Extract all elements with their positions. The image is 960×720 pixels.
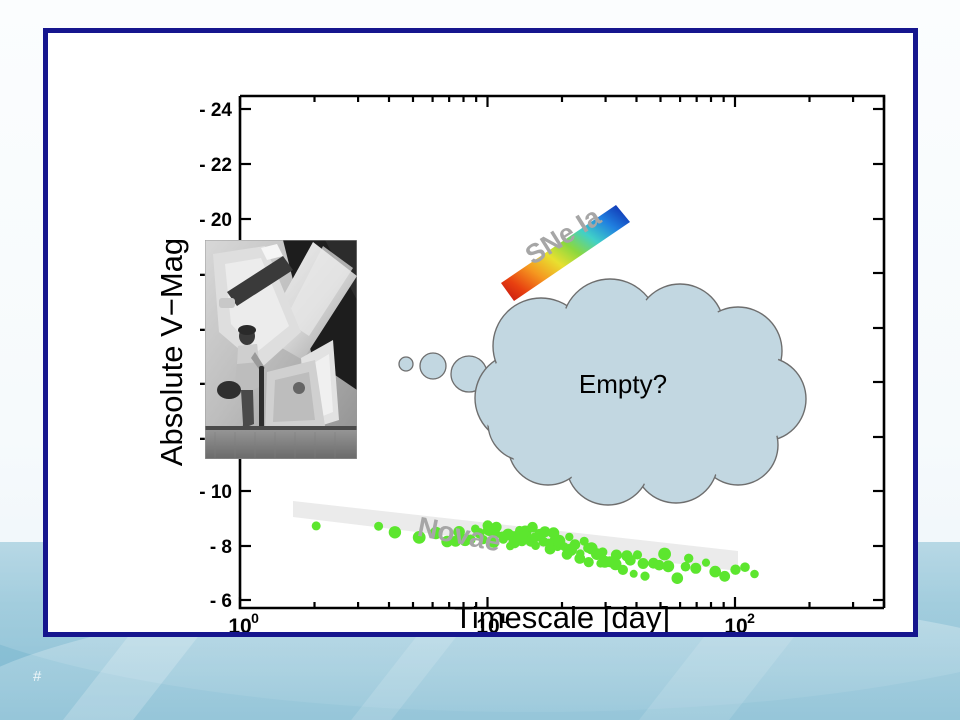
novae-data-point <box>531 541 540 550</box>
y-tick-label: - 22 <box>199 155 232 176</box>
x-tick-label: 10 <box>724 615 747 632</box>
novae-data-point <box>681 562 691 572</box>
x-tick-label: 10 <box>228 615 251 632</box>
novae-data-point <box>374 522 383 531</box>
novae-data-point <box>702 559 710 567</box>
figure-plot-area: - 24 - 22 - 20 - 18 - 16 - 14 - 12 - 10 … <box>48 33 913 632</box>
thought-bubble-dot-small <box>399 357 413 371</box>
novae-data-point <box>598 547 608 557</box>
novae-data-point <box>672 572 684 584</box>
y-tick-label: - 20 <box>199 210 232 231</box>
novae-data-point <box>389 526 401 538</box>
novae-data-point <box>630 570 638 578</box>
y-tick-label: - 24 <box>199 100 232 121</box>
thought-bubble-dot-medium <box>420 353 446 379</box>
x-axis-title: Timescale [day] <box>454 600 670 632</box>
page-number: # <box>33 668 41 685</box>
novae-data-point <box>750 570 759 579</box>
novae-data-point <box>662 560 674 572</box>
novae-data-point <box>574 553 585 564</box>
novae-data-point <box>719 571 730 582</box>
novae-data-point <box>740 562 750 572</box>
novae-data-point <box>570 539 581 550</box>
content-frame: - 24 - 22 - 20 - 18 - 16 - 14 - 12 - 10 … <box>43 28 918 637</box>
slide: # <box>0 0 960 720</box>
novae-data-point <box>618 565 628 575</box>
x-tick-exponent: 2 <box>747 610 755 626</box>
novae-data-point <box>633 550 642 559</box>
novae-data-point <box>640 572 649 581</box>
thought-bubble-label: Empty? <box>543 369 703 400</box>
novae-data-point <box>730 565 740 575</box>
novae-data-point <box>312 521 321 530</box>
x-tick-exponent: 0 <box>251 610 259 626</box>
novae-data-point <box>684 554 693 563</box>
y-tick-label: - 8 <box>210 537 232 558</box>
y-tick-label: - 6 <box>210 591 232 612</box>
novae-data-point <box>690 563 701 574</box>
novae-data-point <box>709 566 721 578</box>
y-axis-title: Absolute V−Mag <box>154 238 189 466</box>
novae-data-point <box>565 533 573 541</box>
y-tick-label: - 10 <box>199 482 232 503</box>
novae-data-point <box>638 558 649 569</box>
telescope-photo-inset <box>205 240 357 459</box>
novae-data-point <box>584 557 594 567</box>
novae-data-point <box>658 548 671 561</box>
